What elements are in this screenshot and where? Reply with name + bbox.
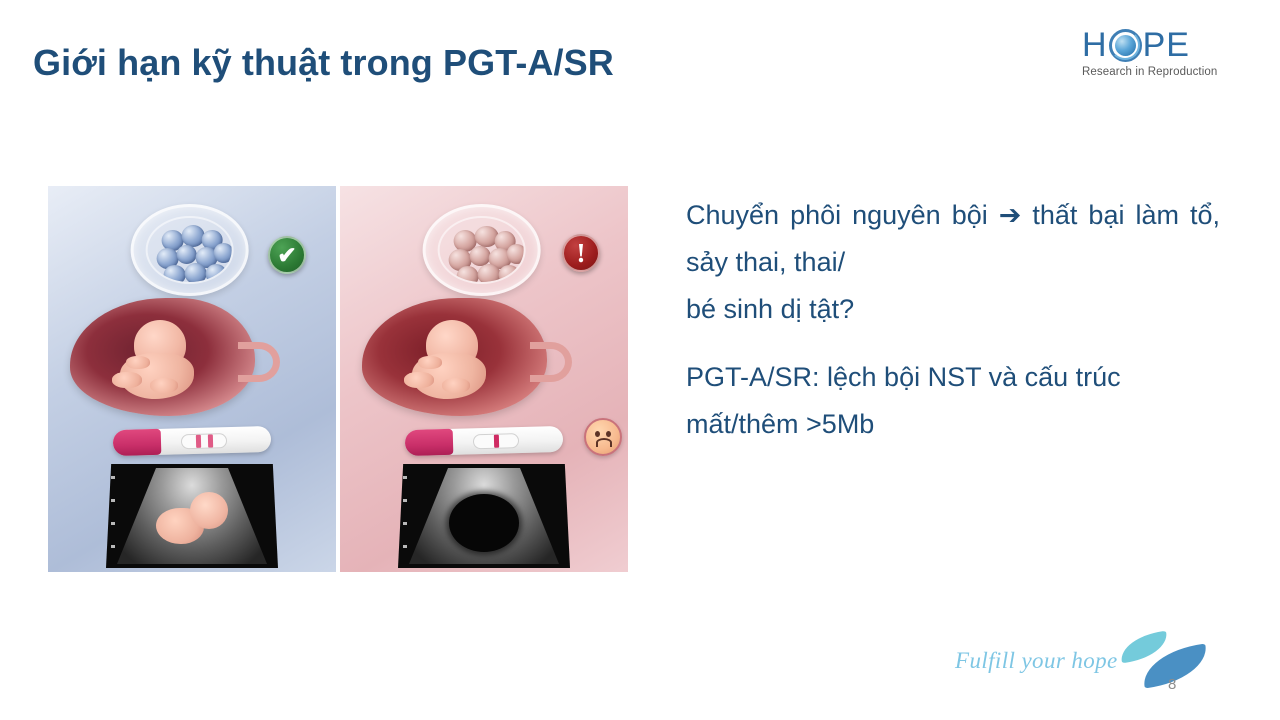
sad-face-icon — [584, 418, 622, 456]
uterus-fetus-abnormal — [362, 298, 572, 418]
paragraph-question: Chuyển phôi nguyên bội ➔ thất bại làm tổ… — [686, 192, 1220, 332]
ultrasound-ticks — [111, 476, 115, 548]
para1-line1: Chuyển phôi nguyên bội — [686, 200, 988, 230]
fetus-illustration — [104, 320, 216, 400]
logo-letter-h: H — [1082, 28, 1108, 62]
logo-subtitle: Research in Reproduction — [1082, 66, 1222, 78]
pregnancy-test-single-line — [405, 426, 564, 456]
fallopian-tube — [530, 342, 572, 382]
uterus-fetus-healthy — [70, 298, 280, 418]
test-cap — [405, 429, 454, 456]
leaf-petals-icon — [1118, 634, 1210, 690]
dish-inner — [146, 216, 234, 284]
pregnancy-test-positive — [113, 426, 272, 456]
test-window — [473, 433, 519, 449]
ultrasound-baby-shape — [152, 490, 228, 548]
comparison-figure: ✔ — [48, 186, 628, 572]
petri-dish-embryo — [131, 204, 249, 296]
warning-circle-icon: ! — [562, 234, 600, 272]
para2-line1: PGT-A/SR: lệch bội NST và cấu — [686, 362, 1068, 392]
ultrasound-gestational-sac — [449, 494, 519, 552]
logo-wordmark: H P E — [1082, 26, 1222, 64]
embryo-circle-icon — [1109, 29, 1142, 62]
dish-inner — [438, 216, 526, 284]
check-circle-icon: ✔ — [268, 236, 306, 274]
logo-letter-e: E — [1166, 28, 1190, 62]
hope-logo: H P E Research in Reproduction — [1082, 26, 1222, 84]
ultrasound-empty-sac — [398, 464, 570, 568]
page-title: Giới hạn kỹ thuật trong PGT-A/SR — [33, 42, 614, 84]
fallopian-tube — [238, 342, 280, 382]
panel-success: ✔ — [48, 186, 336, 572]
page-number: 8 — [1168, 676, 1176, 693]
logo-letter-p: P — [1143, 28, 1167, 62]
slide-root: Giới hạn kỹ thuật trong PGT-A/SR H P E R… — [0, 0, 1280, 720]
test-cap — [113, 429, 162, 456]
test-window — [181, 433, 227, 449]
right-arrow-icon: ➔ — [999, 200, 1022, 231]
petri-dish-embryo-abnormal — [423, 204, 541, 296]
panel-failure: ! — [340, 186, 628, 572]
footer-tagline: Fulfill your hope — [955, 648, 1118, 674]
fetus-illustration — [396, 320, 508, 400]
body-text-block: Chuyển phôi nguyên bội ➔ thất bại làm tổ… — [686, 192, 1220, 447]
paragraph-definition: PGT-A/SR: lệch bội NST và cấu trúc mất/t… — [686, 354, 1220, 447]
ultrasound-healthy-baby — [106, 464, 278, 568]
para1-line3: bé sinh dị tật? — [686, 286, 1220, 332]
ultrasound-ticks — [403, 476, 407, 548]
